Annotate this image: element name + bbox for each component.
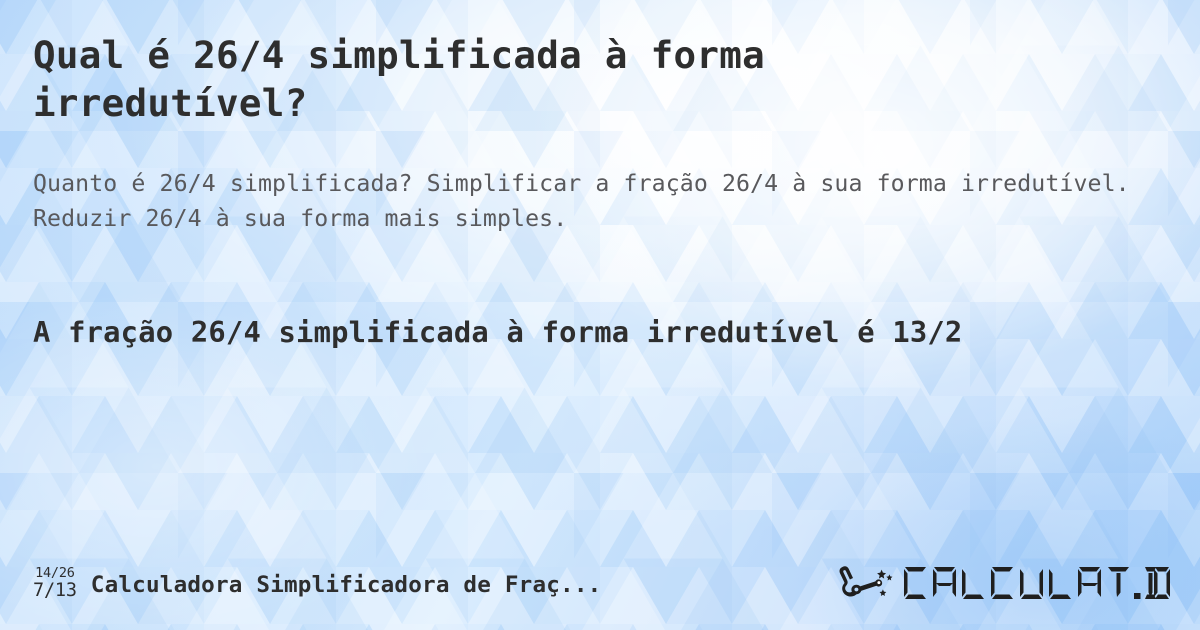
page-title: Qual é 26/4 simplificada à forma irredut… — [33, 0, 1033, 128]
site-name: Calculadora Simplificadora de Fraç... — [91, 572, 602, 598]
brand-wordmark: CALCULAT.IO — [902, 563, 1170, 607]
fraction-badge-original: 14/26 — [35, 567, 75, 581]
page-description: Quanto é 26/4 simplificada? Simplificar … — [33, 128, 1167, 237]
answer-text: A fração 26/4 simplificada à forma irred… — [33, 236, 1167, 354]
og-card: Qual é 26/4 simplificada à forma irredut… — [0, 0, 1200, 630]
content-area: Qual é 26/4 simplificada à forma irredut… — [0, 0, 1200, 630]
footer: 14/26 7/13 Calculadora Simplificadora de… — [0, 556, 1200, 614]
brand-logo[interactable]: CALCULAT.IO — [837, 563, 1170, 607]
footer-left-group: 14/26 7/13 Calculadora Simplificadora de… — [33, 567, 601, 603]
magic-wand-hand-icon — [837, 563, 895, 607]
fraction-badge-simplified: 7/13 — [33, 582, 77, 601]
fraction-badge-icon: 14/26 7/13 — [33, 567, 77, 603]
